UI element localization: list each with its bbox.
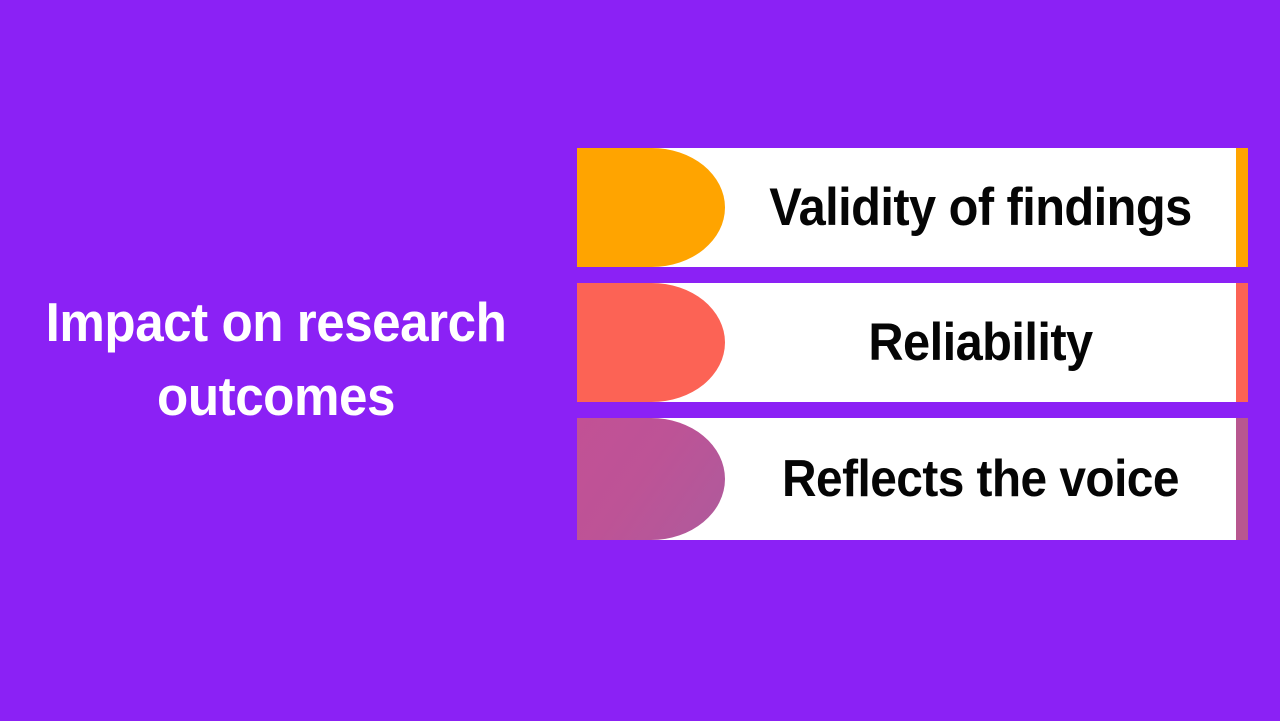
- bar-accent-shape: [577, 418, 725, 540]
- list-item-label: Reliability: [745, 315, 1215, 371]
- list-item[interactable]: Reflects the voice: [577, 418, 1248, 540]
- bar-accent-shape: [577, 283, 725, 402]
- bar-edge-stripe: [1236, 283, 1248, 402]
- bar-accent-shape: [577, 148, 725, 267]
- list-item-label: Reflects the voice: [745, 451, 1215, 507]
- list-item[interactable]: Reliability: [577, 283, 1248, 402]
- list-item[interactable]: Validity of findings: [577, 148, 1248, 267]
- bar-edge-stripe: [1236, 148, 1248, 267]
- slide-canvas: Impact on research outcomes Validity of …: [0, 0, 1280, 721]
- list-item-label: Validity of findings: [745, 180, 1215, 236]
- bar-edge-stripe: [1236, 418, 1248, 540]
- bar-list: Validity of findings Reliability Reflect…: [577, 148, 1248, 540]
- page-title: Impact on research outcomes: [30, 285, 521, 433]
